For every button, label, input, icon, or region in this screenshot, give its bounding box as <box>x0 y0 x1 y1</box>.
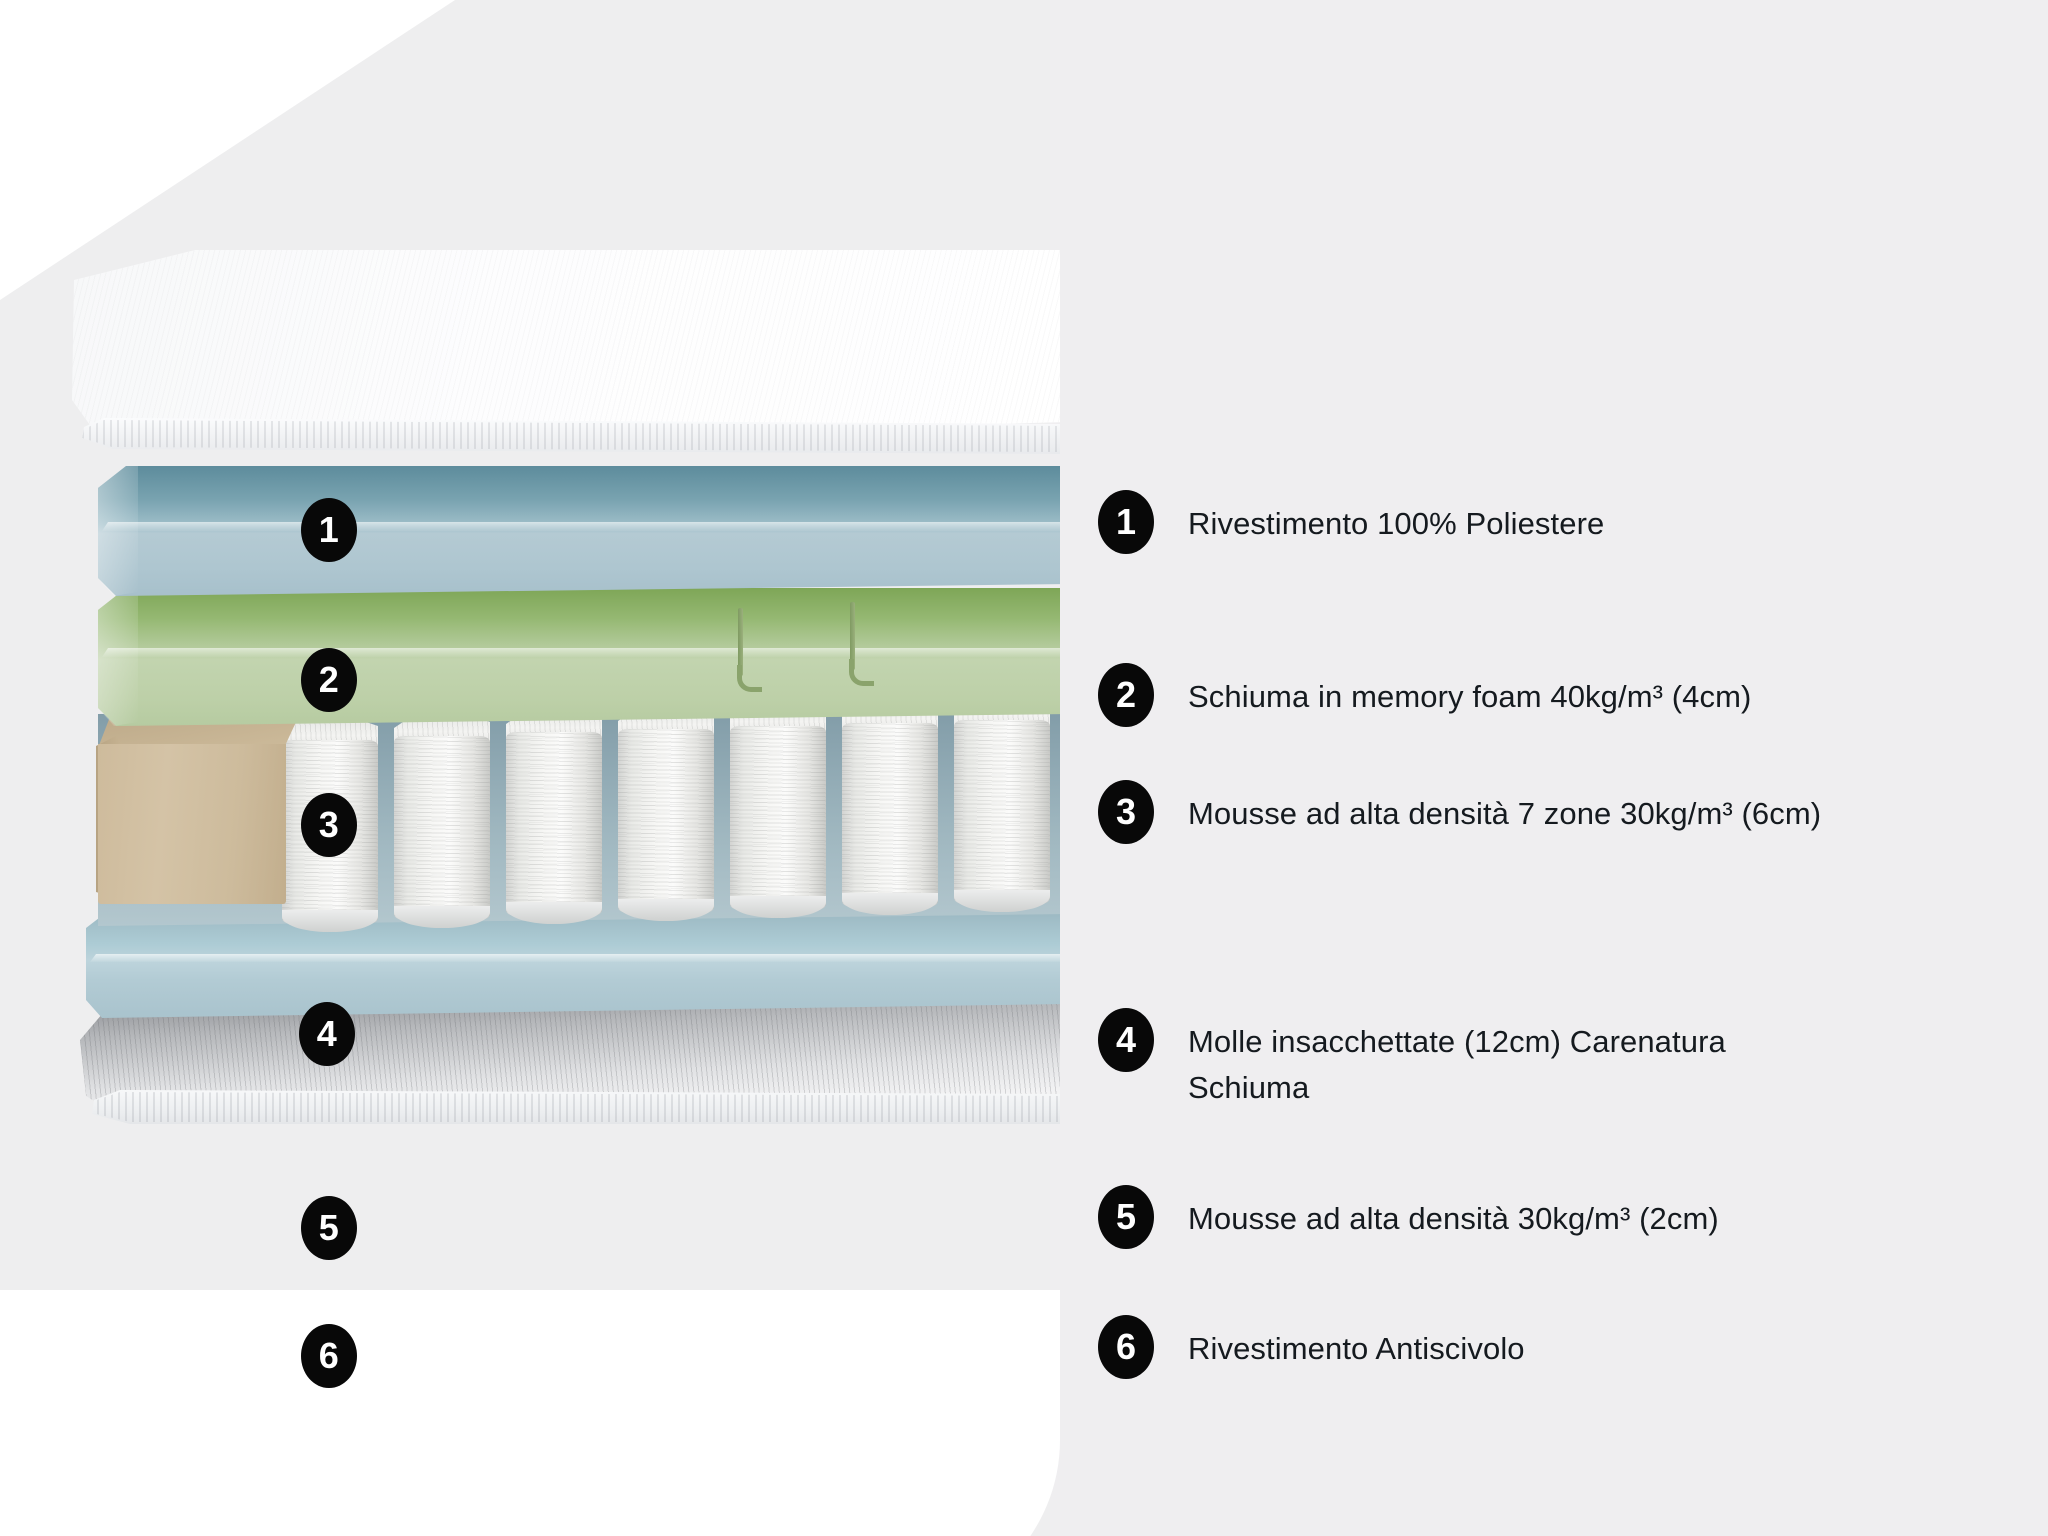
callout-pin-3[interactable]: 3 <box>301 793 357 857</box>
legend-label-4: Molle insacchettate (12cm) Carenatura Sc… <box>1188 1008 1852 1110</box>
legend-label-3: Mousse ad alta densità 7 zone 30kg/m³ (6… <box>1188 780 1821 837</box>
callout-pin-6[interactable]: 6 <box>301 1324 357 1388</box>
memory-foam-surface <box>98 466 1060 596</box>
zone-cut-groove <box>850 602 855 670</box>
callout-pin-5[interactable]: 5 <box>301 1196 357 1260</box>
legend-item-1[interactable]: 1 Rivestimento 100% Poliestere <box>1098 490 1604 554</box>
pocket-spring <box>730 726 826 910</box>
callout-pin-2[interactable]: 2 <box>301 648 357 712</box>
mattress-layer-memory-foam <box>98 466 1060 596</box>
zone-cut-groove <box>738 608 743 676</box>
mattress-layer-pocket-springs <box>98 700 1060 926</box>
mousse-7-zone-bevel <box>98 588 138 726</box>
anti-slip-cover-edge-band <box>90 1090 1060 1128</box>
pocket-spring-row <box>276 696 1060 912</box>
legend-item-6[interactable]: 6 Rivestimento Antiscivolo <box>1098 1315 1525 1379</box>
edge-foam-front-face <box>98 744 286 904</box>
callout-pin-4[interactable]: 4 <box>299 1002 355 1066</box>
memory-foam-highlight <box>98 522 1060 531</box>
legend-label-1: Rivestimento 100% Poliestere <box>1188 490 1604 547</box>
legend-item-2[interactable]: 2 Schiuma in memory foam 40kg/m³ (4cm) <box>1098 663 1751 727</box>
legend-badge-5: 5 <box>1098 1185 1154 1249</box>
legend-badge-1: 1 <box>1098 490 1154 554</box>
legend-badge-2: 2 <box>1098 663 1154 727</box>
legend-badge-4: 4 <box>1098 1008 1154 1072</box>
callout-pin-1[interactable]: 1 <box>301 498 357 562</box>
legend-label-6: Rivestimento Antiscivolo <box>1188 1315 1525 1372</box>
mousse-7-zone-highlight <box>98 648 1060 657</box>
edge-support-foam-block <box>98 696 308 904</box>
mousse-7-zone-surface <box>98 588 1060 726</box>
mattress-layer-anti-slip-cover <box>80 1000 1060 1140</box>
mattress-layer-polyester-cover <box>70 250 1060 460</box>
polyester-cover-edge-band <box>82 418 1060 456</box>
legend-item-4[interactable]: 4 Molle insacchettate (12cm) Carenatura … <box>1098 1008 1852 1110</box>
pocket-spring <box>842 723 938 907</box>
mattress-layer-mousse-7-zone <box>98 588 1060 726</box>
legend-badge-3: 3 <box>1098 780 1154 844</box>
legend-badge-6: 6 <box>1098 1315 1154 1379</box>
legend-list: 1 Rivestimento 100% Poliestere 2 Schiuma… <box>1098 0 2048 1536</box>
memory-foam-bevel <box>98 466 138 596</box>
legend-label-5: Mousse ad alta densità 30kg/m³ (2cm) <box>1188 1185 1719 1242</box>
pocket-spring <box>618 729 714 913</box>
mousse-base-highlight <box>86 954 1060 962</box>
legend-item-3[interactable]: 3 Mousse ad alta densità 7 zone 30kg/m³ … <box>1098 780 1821 844</box>
diagram-stage: 1 2 3 4 5 6 1 Rivestimento 100% Polieste… <box>0 0 2048 1536</box>
pocket-spring <box>506 732 602 916</box>
mattress-cutaway-illustration: 1 2 3 4 5 6 <box>0 0 1060 1536</box>
legend-item-5[interactable]: 5 Mousse ad alta densità 30kg/m³ (2cm) <box>1098 1185 1719 1249</box>
pocket-spring <box>394 736 490 920</box>
legend-label-2: Schiuma in memory foam 40kg/m³ (4cm) <box>1188 663 1751 720</box>
pocket-spring <box>954 720 1050 904</box>
pocket-spring-array <box>276 696 1060 912</box>
